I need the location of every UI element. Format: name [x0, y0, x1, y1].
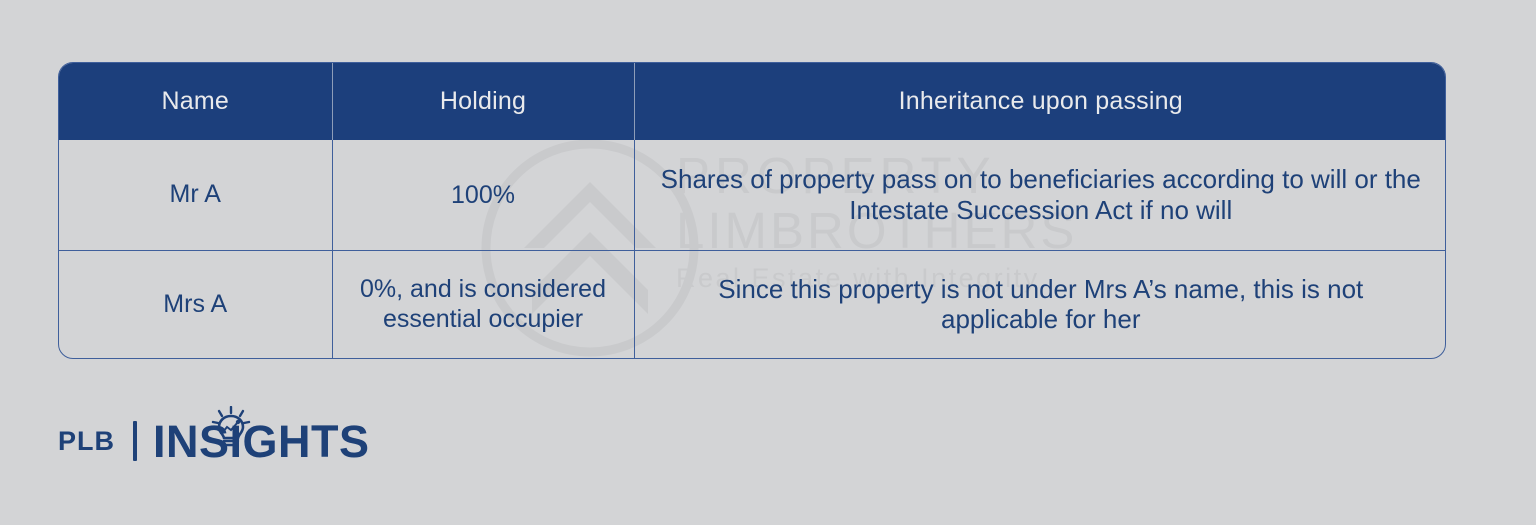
logo-product-text: INSIGHTS — [153, 419, 370, 464]
cell-text: Mrs A — [59, 290, 332, 319]
logo-divider — [133, 421, 137, 461]
inheritance-table: Name Holding Inheritance upon passing Mr… — [59, 63, 1446, 358]
cell-holding-mrs-a: 0%, and is considered essential occupier — [332, 250, 634, 358]
cell-inheritance-mr-a: Shares of property pass on to beneficiar… — [634, 140, 1446, 250]
logo-brand-text: PLB — [58, 428, 115, 455]
cell-text: Since this property is not under Mrs A’s… — [635, 274, 1447, 335]
cell-inheritance-mrs-a: Since this property is not under Mrs A’s… — [634, 250, 1446, 358]
column-header-name: Name — [59, 63, 332, 140]
table-header-row: Name Holding Inheritance upon passing — [59, 63, 1446, 140]
table-row: Mr A 100% Shares of property pass on to … — [59, 140, 1446, 250]
table-row: Mrs A 0%, and is considered essential oc… — [59, 250, 1446, 358]
cell-name-mr-a: Mr A — [59, 140, 332, 250]
table-header: Name Holding Inheritance upon passing — [59, 63, 1446, 140]
cell-text: Mr A — [59, 180, 332, 209]
column-header-holding: Holding — [332, 63, 634, 140]
cell-text: 0%, and is considered essential occupier — [333, 274, 634, 334]
plb-insights-logo: PLB INSIGHTS — [58, 415, 370, 467]
inheritance-table-container: Name Holding Inheritance upon passing Mr… — [58, 62, 1446, 359]
cell-name-mrs-a: Mrs A — [59, 250, 332, 358]
table-body: Mr A 100% Shares of property pass on to … — [59, 140, 1446, 358]
cell-holding-mr-a: 100% — [332, 140, 634, 250]
cell-text: Shares of property pass on to beneficiar… — [635, 164, 1447, 225]
column-header-inheritance: Inheritance upon passing — [634, 63, 1446, 140]
cell-text: 100% — [333, 180, 634, 210]
logo-product-label: INSIGHTS — [153, 416, 370, 467]
